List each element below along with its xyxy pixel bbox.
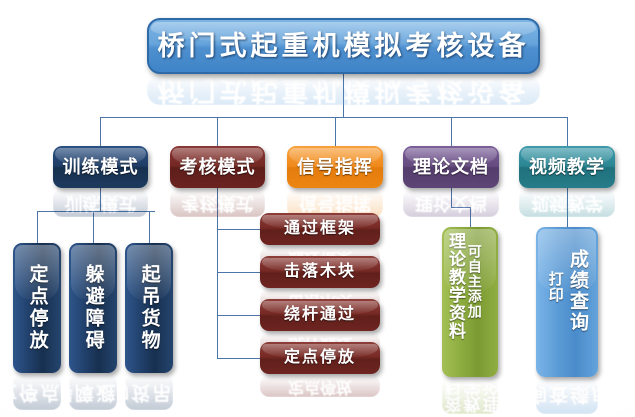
node-around-pole-pass-label: 绕杆通过 [284, 306, 356, 324]
node-signal-command-label: 信号指挥 [297, 157, 373, 177]
reflection-train-label: 训练模式 [65, 193, 137, 213]
connector-exam-to-pole [217, 315, 260, 316]
reflection-theory-doc-label: 理论教学资料 [442, 378, 498, 414]
title-reflection: 桥门式起重机模拟考核设备 [147, 75, 540, 105]
reflection-score-query-label: 成绩查询 [536, 378, 598, 414]
node-training-mode-label: 训练模式 [63, 157, 139, 177]
node-video-teaching[interactable]: 视频教学 [519, 146, 615, 188]
reflection-score-query: 成绩查询 [536, 378, 598, 414]
node-theory-document[interactable]: 理论文档 [403, 146, 499, 188]
reflection-stop: 定点停放 [260, 375, 380, 397]
connector-drop-video [567, 117, 568, 146]
node-score-query-print[interactable]: 打印 成绩查询 [536, 227, 598, 377]
node-pass-through-frame[interactable]: 通过框架 [260, 213, 380, 245]
reflection-video: 视频教学 [519, 189, 615, 217]
connector-drop-theory [451, 117, 452, 146]
node-score-print-label: 打印 [546, 271, 563, 303]
node-training-mode[interactable]: 训练模式 [53, 146, 148, 188]
title-reflection-label: 桥门式起重机模拟考核设备 [158, 75, 530, 105]
node-theory-materials-sub-label: 可自主添加 [466, 244, 482, 319]
node-fixed-point-parking-label: 定点停放 [26, 264, 47, 352]
reflection-avoid-label: 躲避障碍 [69, 374, 117, 410]
reflection-theory: 理论文档 [403, 189, 499, 217]
node-obstacle-avoidance[interactable]: 躲避障碍 [69, 243, 117, 373]
node-score-query-label: 成绩查询 [567, 249, 588, 333]
reflection-park: 定点停放 [13, 374, 61, 410]
node-obstacle-avoidance-label: 躲避障碍 [82, 264, 103, 352]
reflection-signal-label: 信号指挥 [299, 193, 371, 213]
org-chart-diagram: 桥门式起重机模拟考核设备 训练模式 考核模式 信号指挥 理论文档 视频教学 定点… [0, 0, 635, 417]
reflection-park-label: 定点停放 [13, 374, 61, 410]
node-exam-mode-label: 考核模式 [180, 157, 256, 177]
node-lifting-cargo-label: 起吊货物 [138, 264, 159, 352]
node-pass-through-frame-label: 通过框架 [284, 220, 356, 238]
connector-main-bus [100, 117, 567, 118]
reflection-theory-doc: 理论教学资料 [442, 378, 498, 414]
diagram-title-node: 桥门式起重机模拟考核设备 [147, 18, 540, 74]
reflection-video-label: 视频教学 [531, 193, 603, 213]
node-lifting-cargo[interactable]: 起吊货物 [125, 243, 173, 373]
node-knock-down-block[interactable]: 击落木块 [260, 256, 380, 288]
reflection-train: 训练模式 [53, 189, 148, 217]
node-exam-fixed-point-parking[interactable]: 定点停放 [260, 342, 380, 374]
reflection-lift: 起吊货物 [125, 374, 173, 410]
reflection-exam-label: 考核模式 [182, 193, 254, 213]
diagram-title-label: 桥门式起重机模拟考核设备 [158, 31, 530, 61]
connector-drop-signal [335, 117, 336, 146]
node-around-pole-pass[interactable]: 绕杆通过 [260, 299, 380, 331]
connector-train-to-lift [149, 211, 150, 243]
node-video-teaching-label: 视频教学 [529, 157, 605, 177]
connector-drop-exam [217, 117, 218, 146]
connector-train-to-park [37, 211, 38, 243]
connector-exam-to-knock [217, 272, 260, 273]
reflection-lift-label: 起吊货物 [125, 374, 173, 410]
node-exam-mode[interactable]: 考核模式 [170, 146, 265, 188]
reflection-stop-label: 定点停放 [288, 377, 352, 395]
reflection-avoid: 躲避障碍 [69, 374, 117, 410]
node-signal-command[interactable]: 信号指挥 [287, 146, 383, 188]
node-knock-down-block-label: 击落木块 [284, 263, 356, 281]
connector-exam-to-stop [217, 358, 260, 359]
node-fixed-point-parking[interactable]: 定点停放 [13, 243, 61, 373]
connector-drop-train [100, 117, 101, 146]
node-exam-fixed-point-parking-label: 定点停放 [284, 349, 356, 367]
node-theory-document-label: 理论文档 [413, 157, 489, 177]
connector-exam-to-frame [217, 229, 260, 230]
reflection-exam: 考核模式 [170, 189, 265, 217]
node-theory-materials-main-label: 理论教学资料 [446, 232, 465, 340]
reflection-theory-label: 理论文档 [415, 193, 487, 213]
node-theory-teaching-materials[interactable]: 理论教学资料 可自主添加 [442, 227, 498, 377]
